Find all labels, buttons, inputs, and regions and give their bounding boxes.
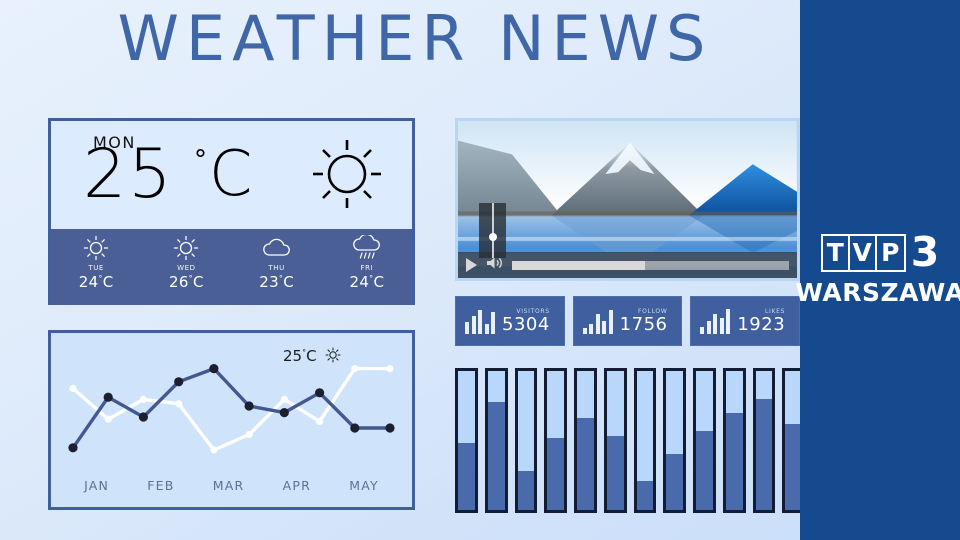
tvp-letter-boxes: T V P — [821, 234, 906, 272]
tvp-brand-panel: T V P 3 WARSZAWA — [800, 0, 960, 540]
chart-series-secondary — [69, 365, 393, 454]
gauge-fill — [726, 413, 743, 510]
stat-value: 5304 — [502, 316, 550, 334]
forecast-temp: 26°C — [169, 273, 204, 291]
stat-card-follow[interactable]: FOLLOW 1756 — [573, 296, 683, 346]
volume-track[interactable] — [492, 203, 494, 258]
tvp-letter-v: V — [850, 236, 877, 270]
gauge-bar — [693, 368, 716, 513]
weather-temperature: 25 — [83, 141, 174, 209]
gauge-fill — [577, 418, 594, 510]
line-chart-card: 25°C JAN FEB MAR APR MAY — [48, 330, 415, 510]
gauge-fill — [696, 431, 713, 510]
forecast-item[interactable]: TUE 24°C — [51, 229, 141, 305]
bar-chart-icon — [583, 308, 613, 334]
video-player[interactable] — [455, 118, 800, 281]
chart-series-primary — [68, 364, 394, 452]
page-title: WEATHER NEWS — [0, 2, 830, 75]
axis-tick: APR — [283, 478, 311, 493]
bar-chart-icon — [700, 308, 730, 334]
axis-tick: MAY — [349, 478, 379, 493]
axis-tick: JAN — [84, 478, 109, 493]
bar-chart-icon — [465, 308, 495, 334]
tvp-letter-p: P — [877, 236, 904, 270]
gauge-fill — [637, 481, 654, 510]
gauge-bar — [604, 368, 627, 513]
gauge-bar — [753, 368, 776, 513]
forecast-day: WED — [177, 264, 196, 272]
stats-row: VISITORS 5304 FOLLOW 1756 LIKES 1923 — [455, 296, 800, 346]
forecast-day: TUE — [88, 264, 104, 272]
forecast-temp: 24°C — [79, 273, 114, 291]
gauge-fill — [547, 438, 564, 510]
tvp-letter-t: T — [823, 236, 850, 270]
volume-slider[interactable] — [479, 203, 506, 258]
play-icon[interactable] — [466, 258, 477, 272]
tvp-logo: T V P 3 — [821, 234, 940, 272]
gauge-fill — [756, 399, 773, 510]
gauge-fill — [666, 454, 683, 510]
gauge-bar — [723, 368, 746, 513]
stat-value: 1756 — [620, 316, 668, 334]
weather-current: MON 25 ° C — [51, 121, 412, 229]
video-controls[interactable] — [458, 252, 797, 278]
forecast-item[interactable]: THU 23°C — [232, 229, 322, 305]
stat-card-likes[interactable]: LIKES 1923 — [690, 296, 800, 346]
sun-icon — [83, 235, 109, 261]
volume-thumb[interactable] — [489, 233, 497, 241]
sun-icon — [325, 347, 341, 365]
forecast-temp: 23°C — [259, 273, 294, 291]
forecast-item[interactable]: FRI 24°C — [322, 229, 412, 305]
stat-card-visitors[interactable]: VISITORS 5304 — [455, 296, 565, 346]
video-progress-fill — [512, 261, 645, 270]
gauge-fill — [607, 436, 624, 510]
volume-icon[interactable] — [486, 256, 503, 275]
chart-x-axis: JAN FEB MAR APR MAY — [51, 478, 412, 493]
gauge-bar — [455, 368, 478, 513]
video-progress-bar[interactable] — [512, 261, 789, 270]
axis-tick: MAR — [213, 478, 245, 493]
axis-tick: FEB — [147, 478, 174, 493]
gauge-bar — [544, 368, 567, 513]
gauge-bar — [515, 368, 538, 513]
tvp-city-label: WARSZAWA — [795, 278, 960, 307]
stat-value: 1923 — [737, 316, 785, 334]
weather-card: MON 25 ° C — [48, 118, 415, 305]
gauge-bar — [574, 368, 597, 513]
gauge-bar — [634, 368, 657, 513]
forecast-day: FRI — [360, 264, 373, 272]
gauge-bar — [485, 368, 508, 513]
forecast-item[interactable]: WED 26°C — [141, 229, 231, 305]
cloud-icon — [262, 235, 292, 261]
gauge-fill — [518, 471, 535, 510]
rain-cloud-icon — [352, 235, 382, 261]
forecast-temp: 24°C — [349, 273, 384, 291]
gauge-fill — [458, 443, 475, 510]
tvp-channel-number: 3 — [911, 234, 940, 271]
forecast-row: TUE 24°C WED 26°C — [51, 229, 412, 305]
gauge-bar — [663, 368, 686, 513]
weather-unit: C — [209, 143, 252, 205]
forecast-day: THU — [268, 264, 284, 272]
gauge-bars — [455, 368, 805, 513]
gauge-fill — [488, 402, 505, 510]
sun-icon — [310, 137, 384, 216]
chart-annotation: 25°C — [283, 347, 341, 365]
sun-icon — [173, 235, 199, 261]
weather-degree-symbol: ° — [194, 145, 207, 175]
